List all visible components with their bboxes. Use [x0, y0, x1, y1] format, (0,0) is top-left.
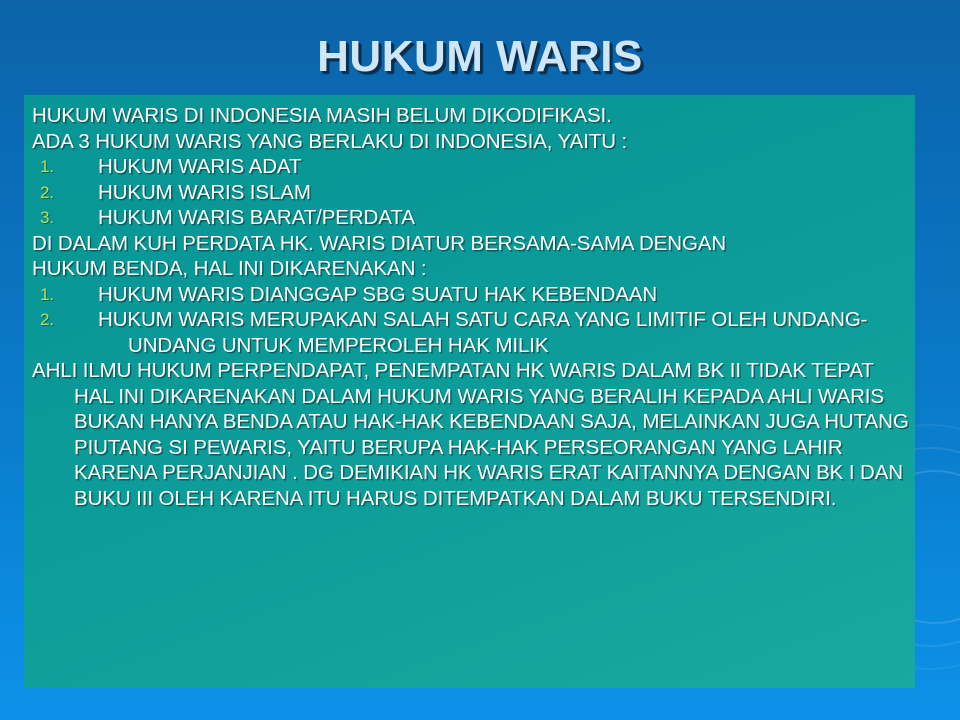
slide-title-area: HUKUM WARIS — [0, 34, 960, 80]
numbered-list-2: 1. HUKUM WARIS DIANGGAP SBG SUATU HAK KE… — [32, 282, 909, 359]
body-line-2: ADA 3 HUKUM WARIS YANG BERLAKU DI INDONE… — [32, 129, 909, 155]
list-item: 3. HUKUM WARIS BARAT/PERDATA — [32, 205, 909, 231]
list-item-label: HUKUM WARIS BARAT/PERDATA — [98, 205, 909, 231]
presentation-slide: HUKUM WARIS HUKUM WARIS DI INDONESIA MAS… — [0, 0, 960, 720]
slide-content-panel: HUKUM WARIS DI INDONESIA MASIH BELUM DIK… — [24, 95, 915, 688]
list-marker: 3. — [32, 205, 98, 231]
list-item: 1. HUKUM WARIS DIANGGAP SBG SUATU HAK KE… — [32, 282, 909, 308]
list-item: 2. HUKUM WARIS MERUPAKAN SALAH SATU CARA… — [32, 307, 909, 358]
list-marker: 2. — [32, 180, 98, 206]
body-paragraph-final: AHLI ILMU HUKUM PERPENDAPAT, PENEMPATAN … — [32, 358, 909, 511]
numbered-list-1: 1. HUKUM WARIS ADAT 2. HUKUM WARIS ISLAM… — [32, 154, 909, 231]
list-item-label: HUKUM WARIS ADAT — [98, 154, 909, 180]
body-line-4: HUKUM BENDA, HAL INI DIKARENAKAN : — [32, 256, 909, 282]
body-line-1: HUKUM WARIS DI INDONESIA MASIH BELUM DIK… — [32, 103, 909, 129]
list-item: 1. HUKUM WARIS ADAT — [32, 154, 909, 180]
list-marker: 2. — [32, 307, 98, 333]
body-line-3: DI DALAM KUH PERDATA HK. WARIS DIATUR BE… — [32, 231, 909, 257]
list-item-label: HUKUM WARIS DIANGGAP SBG SUATU HAK KEBEN… — [98, 282, 909, 308]
list-item-label: HUKUM WARIS ISLAM — [98, 180, 909, 206]
list-item: 2. HUKUM WARIS ISLAM — [32, 180, 909, 206]
list-marker: 1. — [32, 282, 98, 308]
list-marker: 1. — [32, 154, 98, 180]
list-item-label: HUKUM WARIS MERUPAKAN SALAH SATU CARA YA… — [98, 307, 909, 358]
page-title: HUKUM WARIS — [317, 34, 643, 80]
